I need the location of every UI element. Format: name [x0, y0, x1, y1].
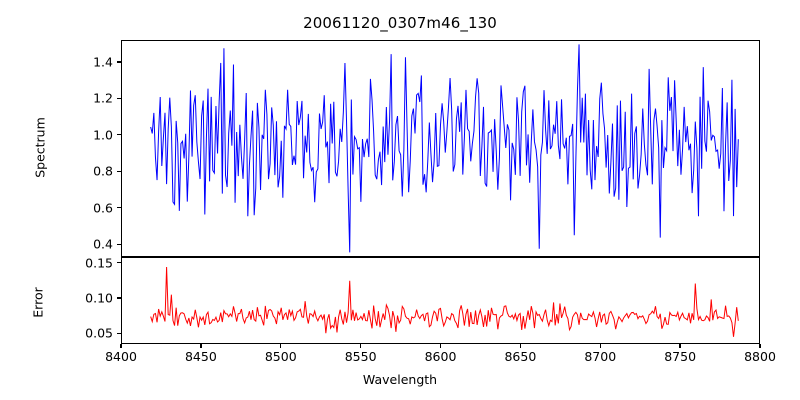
x-tick-label-8600: 8600: [411, 349, 471, 364]
spectrum-trace: [151, 44, 739, 252]
error-plot-area: [122, 258, 759, 343]
y-axis-label-error: Error: [31, 263, 46, 343]
x-tick-mark-8700: [600, 344, 601, 348]
x-tick-mark-8800: [759, 344, 760, 348]
x-tick-mark-8750: [679, 344, 680, 348]
x-tick-mark-8400: [120, 344, 121, 348]
x-tick-mark-8500: [280, 344, 281, 348]
figure-canvas: 20061120_0307m46_130 8400845085008550860…: [0, 0, 800, 400]
x-tick-label-8550: 8550: [331, 349, 391, 364]
error-panel: [121, 257, 760, 344]
spectrum-plot-area: [122, 41, 759, 256]
x-axis-label: Wavelength: [0, 372, 800, 387]
y-tick-label-spectrum-1.0: 1.0: [53, 127, 113, 142]
x-tick-label-8700: 8700: [570, 349, 630, 364]
x-tick-label-8800: 8800: [730, 349, 790, 364]
figure-title: 20061120_0307m46_130: [0, 14, 800, 32]
error-trace: [151, 267, 739, 337]
x-tick-label-8450: 8450: [171, 349, 231, 364]
x-tick-mark-8600: [440, 344, 441, 348]
x-tick-label-8500: 8500: [251, 349, 311, 364]
y-tick-label-error-0.10: 0.10: [53, 291, 113, 306]
y-tick-mark-spectrum-0.4: [117, 244, 121, 245]
y-tick-mark-error-0.15: [117, 262, 121, 263]
x-tick-label-8650: 8650: [490, 349, 550, 364]
y-tick-label-spectrum-0.6: 0.6: [53, 200, 113, 215]
y-tick-mark-error-0.10: [117, 297, 121, 298]
x-tick-mark-8650: [520, 344, 521, 348]
y-tick-label-spectrum-1.4: 1.4: [53, 54, 113, 69]
x-tick-mark-8550: [360, 344, 361, 348]
x-tick-label-8750: 8750: [650, 349, 710, 364]
y-tick-mark-spectrum-0.6: [117, 207, 121, 208]
spectrum-panel: [121, 40, 760, 257]
y-tick-label-spectrum-1.2: 1.2: [53, 91, 113, 106]
y-tick-label-error-0.15: 0.15: [53, 255, 113, 270]
y-tick-mark-spectrum-0.8: [117, 171, 121, 172]
y-tick-label-error-0.05: 0.05: [53, 326, 113, 341]
y-tick-mark-error-0.05: [117, 333, 121, 334]
x-tick-mark-8450: [200, 344, 201, 348]
y-tick-mark-spectrum-1.4: [117, 61, 121, 62]
y-tick-label-spectrum-0.4: 0.4: [53, 237, 113, 252]
y-tick-mark-spectrum-1.2: [117, 98, 121, 99]
y-tick-label-spectrum-0.8: 0.8: [53, 164, 113, 179]
x-tick-label-8400: 8400: [91, 349, 151, 364]
y-tick-mark-spectrum-1.0: [117, 134, 121, 135]
y-axis-label-spectrum: Spectrum: [33, 98, 48, 198]
